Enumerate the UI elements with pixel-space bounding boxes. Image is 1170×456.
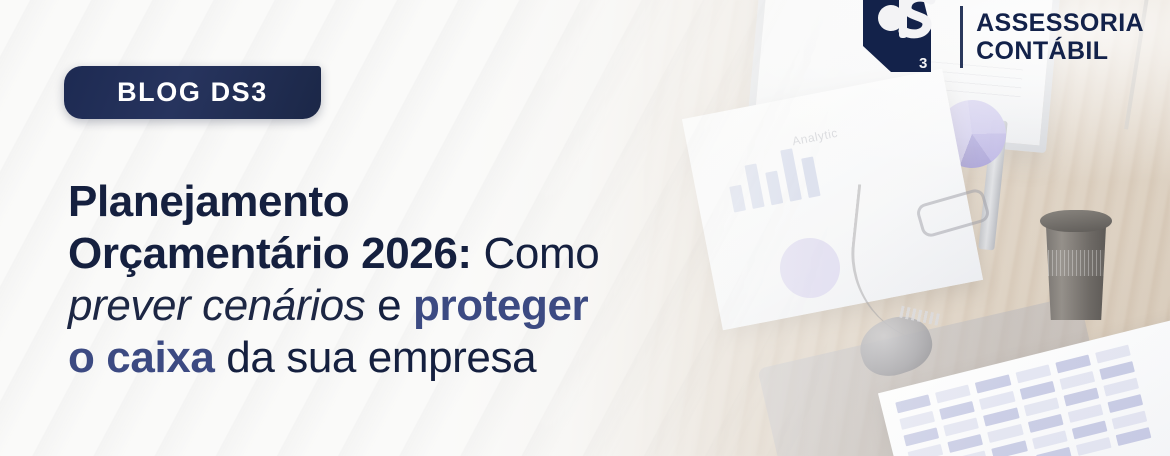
logo-line-contabil: CONTÁBIL — [976, 37, 1144, 65]
headline-seg-e: e — [365, 281, 413, 330]
headline-line-1: Planejamento — [68, 176, 599, 228]
headline-seg-planejamento: Planejamento — [68, 177, 349, 226]
headline-line-4: o caixa da sua empresa — [68, 332, 599, 384]
logo-divider — [960, 6, 963, 68]
headline-line-3: prever cenários e proteger — [68, 280, 599, 332]
headline-seg-como: Como — [472, 229, 600, 278]
ds3-logo[interactable]: 3 ASSESSORIA CONTÁBIL — [861, 0, 1144, 76]
headline-seg-proteger: proteger — [413, 281, 588, 330]
blog-badge[interactable]: BLOG DS3 — [64, 66, 321, 119]
headline-seg-orcamentario: Orçamentário 2026: — [68, 229, 472, 278]
ds3-logo-mark-icon: 3 — [861, 0, 947, 76]
blog-banner: Analytic — [0, 0, 1170, 456]
logo-wordmark: ASSESSORIA CONTÁBIL — [976, 9, 1144, 65]
headline-seg-prever-cenarios: prever cenários — [68, 281, 365, 330]
svg-text:3: 3 — [919, 55, 927, 72]
logo-line-assessoria: ASSESSORIA — [976, 9, 1144, 37]
page-title: Planejamento Orçamentário 2026: Como pre… — [68, 176, 599, 384]
headline-line-2: Orçamentário 2026: Como — [68, 228, 599, 280]
headline-seg-da-sua-empresa: da sua empresa — [214, 333, 536, 382]
headline-seg-o-caixa: o caixa — [68, 333, 214, 382]
